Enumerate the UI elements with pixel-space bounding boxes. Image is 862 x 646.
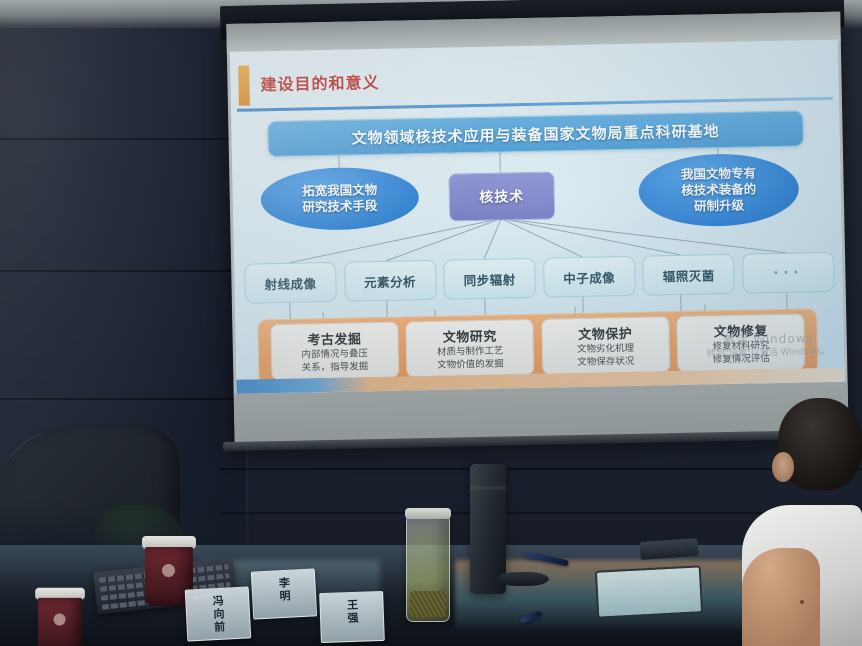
wall-seam xyxy=(220,468,862,470)
watermark-line-2: 转到"设置"以激活 Windows。 xyxy=(707,346,831,361)
technology-node-5: 辐照灭菌 xyxy=(642,254,735,296)
technology-node-2: 元素分析 xyxy=(344,260,437,302)
name-plate-text: 王强 xyxy=(343,599,360,626)
attendee-skin-mark xyxy=(800,600,804,604)
technology-row: 射线成像 元素分析 同步辐射 中子成像 辐照灭菌 ··· xyxy=(244,252,835,302)
goal-right-line1: 我国文物专有 xyxy=(681,165,756,183)
diagram-center-node: 核技术 xyxy=(448,171,555,221)
windows-activation-watermark: 激活 Windows 转到"设置"以激活 Windows。 xyxy=(706,330,830,361)
application-1-heading: 考古发掘 xyxy=(307,328,361,348)
application-2-line1: 材质与制作工艺 xyxy=(437,345,504,358)
goal-left-line1: 拓宽我国文物 xyxy=(302,182,377,200)
goal-right-line3: 研制升级 xyxy=(681,197,756,215)
tablet-device xyxy=(595,565,703,618)
glass-tea-tumbler xyxy=(406,515,450,622)
goal-left-line2: 研究技术手段 xyxy=(302,198,377,216)
application-card-3: 文物保护 文物劣化机理 文物保存状况 xyxy=(541,316,670,375)
application-2-line2: 文物价值的发掘 xyxy=(437,358,504,371)
technology-node-3: 同步辐射 xyxy=(443,258,536,300)
diagram-goal-right: 我国文物专有 核技术装备的 研制升级 xyxy=(638,153,799,228)
application-card-1: 考古发掘 内部情况与叠压 关系，指导发掘 xyxy=(270,322,399,381)
projection-screen: 建设目的和意义 xyxy=(226,0,849,450)
technology-node-ellipsis: ··· xyxy=(742,252,835,294)
name-plate: 李明 xyxy=(251,568,317,619)
attendee-arm xyxy=(742,548,820,646)
name-plate: 王强 xyxy=(319,591,385,643)
application-card-2: 文物研究 材质与制作工艺 文物价值的发掘 xyxy=(406,319,535,378)
application-2-heading: 文物研究 xyxy=(443,325,497,345)
application-3-heading: 文物保护 xyxy=(578,323,632,343)
application-3-line2: 文物保存状况 xyxy=(577,355,634,368)
diagram-root-node: 文物领域核技术应用与装备国家文物局重点科研基地 xyxy=(267,110,804,157)
slide-title: 建设目的和意义 xyxy=(260,69,379,95)
presentation-slide: 建设目的和意义 xyxy=(230,40,845,394)
coffee-cup xyxy=(38,588,82,646)
goal-right-line2: 核技术装备的 xyxy=(681,181,756,199)
microphone-base xyxy=(497,572,549,586)
attendee-ear xyxy=(772,452,794,482)
title-divider xyxy=(237,97,833,112)
application-1-line1: 内部情况与叠压 xyxy=(301,348,368,361)
title-accent-bar xyxy=(238,66,250,106)
conference-room-photo: 建设目的和意义 xyxy=(0,0,862,646)
application-3-line1: 文物劣化机理 xyxy=(577,343,634,356)
name-plate: 冯向前 xyxy=(185,586,252,641)
diagram-goal-left: 拓宽我国文物 研究技术手段 xyxy=(260,166,419,231)
name-plate-text: 李明 xyxy=(275,577,292,604)
technology-node-1: 射线成像 xyxy=(244,262,337,304)
technology-node-4: 中子成像 xyxy=(543,256,636,298)
application-1-line2: 关系，指导发掘 xyxy=(302,361,369,374)
name-plate-text: 冯向前 xyxy=(209,595,227,635)
